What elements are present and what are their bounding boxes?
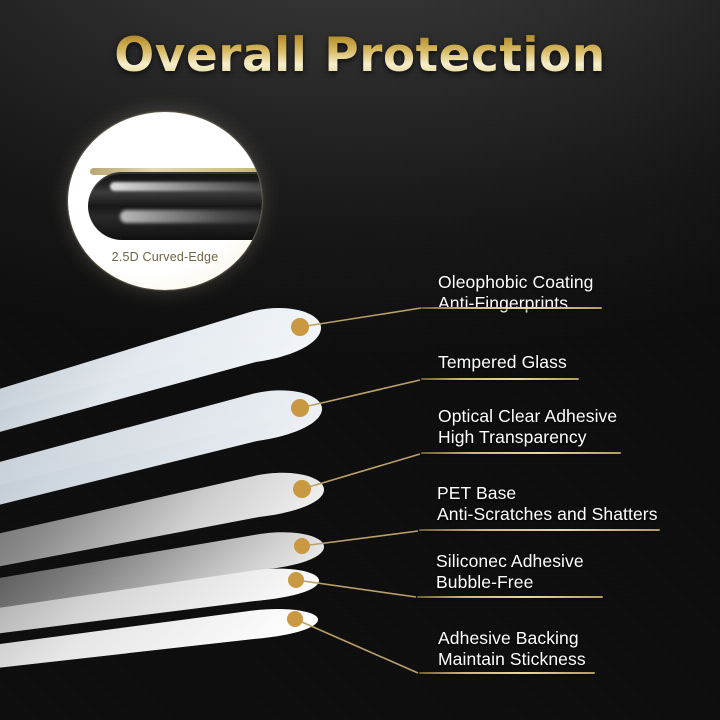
leader-line-oleophobic [300, 308, 421, 327]
underline-oca [421, 452, 621, 454]
label-silicone-line1: Siliconec Adhesive [436, 551, 584, 571]
label-oca: Optical Clear Adhesive High Transparency [438, 406, 617, 448]
underline-silicone [417, 596, 603, 598]
label-oca-line2: High Transparency [438, 427, 617, 448]
edge-highlight-upper [110, 182, 262, 191]
label-oca-line1: Optical Clear Adhesive [438, 406, 617, 426]
label-silicone-line2: Bubble-Free [436, 572, 584, 593]
label-pet: PET Base Anti-Scratches and Shatters [437, 483, 658, 525]
dot-pet [294, 538, 310, 554]
underline-pet [419, 529, 660, 531]
edge-highlight-lower [120, 210, 262, 223]
curved-edge-inset: 2.5D Curved-Edge [68, 112, 262, 290]
underline-backing [419, 672, 595, 674]
underline-oleophobic [421, 307, 602, 309]
dot-oleophobic [291, 318, 309, 336]
inset-caption: 2.5D Curved-Edge [68, 250, 262, 264]
product-infographic: 2.5D Curved-Edge Overall Protection Oleo… [0, 0, 720, 720]
label-oleophobic-line1: Oleophobic Coating [438, 272, 594, 292]
dot-tempered [291, 399, 309, 417]
screen-protector-layer-stack [0, 0, 720, 720]
label-silicone: Siliconec Adhesive Bubble-Free [436, 551, 584, 593]
leader-line-backing [295, 619, 418, 673]
leader-line-silicone [296, 580, 416, 597]
page-title: Overall Protection [0, 28, 720, 83]
label-tempered: Tempered Glass [438, 352, 567, 373]
label-oleophobic-line2: Anti-Fingerprints [438, 293, 594, 314]
leader-line-pet [302, 531, 418, 546]
label-backing-line1: Adhesive Backing [438, 628, 579, 648]
label-pet-line2: Anti-Scratches and Shatters [437, 504, 658, 525]
dot-backing [287, 611, 303, 627]
dot-oca [293, 480, 311, 498]
label-pet-line1: PET Base [437, 483, 516, 503]
leader-line-oca [302, 454, 420, 489]
label-backing: Adhesive Backing Maintain Stickness [438, 628, 586, 670]
dot-silicone [288, 572, 304, 588]
underline-tempered [421, 378, 579, 380]
label-backing-line2: Maintain Stickness [438, 649, 586, 670]
label-tempered-line1: Tempered Glass [438, 352, 567, 372]
leader-line-tempered [300, 380, 420, 408]
